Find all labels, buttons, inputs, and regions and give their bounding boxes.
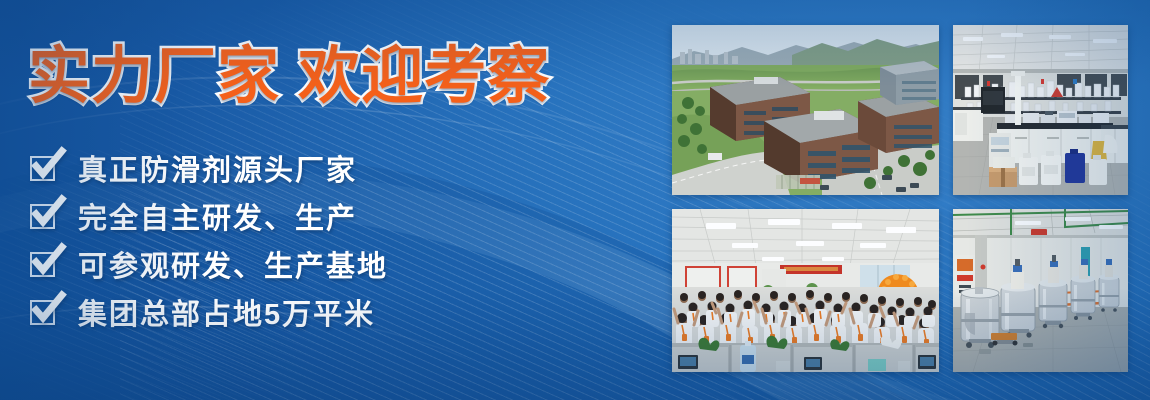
factory-strength-banner: 实力厂家 欢迎考察 真正防滑剂源头厂家 完全自主研发	[0, 0, 1150, 400]
background-vignette	[0, 0, 1150, 400]
